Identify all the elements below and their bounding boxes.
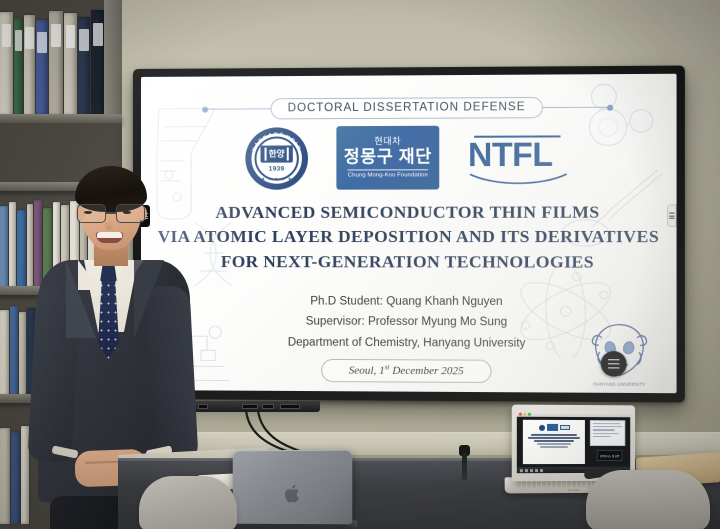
book [17, 210, 26, 288]
hanyang-university-seal-logo: H A N Y A N G U N I V 한양 [245, 127, 308, 190]
laptop-screen[interactable]: 한양대 나노 및 표면 [517, 412, 630, 474]
binder [64, 13, 77, 116]
laptop-window-titlebar [517, 412, 630, 418]
mascot-label: HANYANG UNIVERSITY [587, 382, 651, 387]
slide-title: ADVANCED SEMICONDUCTOR THIN FILMS VIA AT… [141, 200, 677, 275]
binder [91, 10, 104, 116]
book [10, 306, 18, 396]
logo-row: H A N Y A N G U N I V 한양 [141, 125, 677, 190]
jacket-lapel-left [66, 260, 96, 338]
banner-line-left [208, 108, 270, 109]
binder [49, 11, 63, 116]
book [0, 206, 8, 288]
title-line-2: VIA ATOMIC LAYER DEPOSITION AND ITS DERI… [141, 225, 677, 250]
photo-scene: DOCTORAL DISSERTATION DEFENSE H A N [0, 0, 720, 529]
smiling-mouth [96, 232, 123, 243]
info-line-student: Ph.D Student: Quang Khanh Nguyen [141, 291, 677, 313]
microphone-stand [462, 452, 467, 480]
title-line-1: ADVANCED SEMICONDUCTOR THIN FILMS [141, 200, 677, 225]
title-line-3: FOR NEXT-GENERATION TECHNOLOGIES [141, 250, 677, 275]
ntfl-lab-logo: NTFL [468, 132, 569, 183]
macbook-lid [233, 450, 353, 525]
laptop-slide-logos [525, 424, 583, 431]
binder [78, 17, 90, 116]
banner-dot-right [607, 104, 613, 110]
jacket-lapel-right [134, 260, 164, 338]
foundation-korean-small: 현대차 [374, 137, 401, 147]
banner-line-right [543, 107, 607, 108]
presenter-person [28, 160, 203, 500]
seal-ornament: ✦ ✦ ✦ ✦ ✦ [245, 176, 308, 182]
tv-screen: DOCTORAL DISSERTATION DEFENSE H A N [141, 74, 677, 393]
binder [24, 15, 35, 116]
apple-logo-icon [284, 484, 300, 503]
banner-label: DOCTORAL DISSERTATION DEFENSE [271, 97, 543, 120]
date-prefix: Seoul, 1 [349, 365, 385, 377]
book [11, 432, 20, 524]
binder [36, 20, 48, 116]
laptop-side-panel [590, 420, 625, 446]
book [19, 312, 26, 396]
date-suffix: December 2025 [389, 365, 463, 378]
office-chair-left [139, 476, 237, 529]
book [0, 310, 9, 396]
binder [14, 18, 23, 116]
laptop-screen-badge: 한양대 나노 및 표면 [597, 450, 623, 461]
foundation-english-name: Chung Mong-Koo Foundation [348, 170, 428, 179]
necktie-pattern [98, 281, 119, 359]
laptop-brand-label: LG Gram [568, 489, 580, 492]
laptop-slide-preview [523, 420, 585, 464]
date-badge: Seoul, 1st December 2025 [321, 359, 491, 383]
binder [0, 12, 13, 116]
seal-year: 1939 [245, 165, 308, 172]
book [0, 428, 10, 524]
book [9, 202, 16, 288]
wall-mounted-tv: DOCTORAL DISSERTATION DEFENSE H A N [133, 66, 685, 403]
office-chair-right [586, 470, 710, 529]
chung-mong-koo-foundation-logo: 현대차 정몽구 재단 Chung Mong-Koo Foundation [336, 126, 439, 190]
ntfl-logo-text: NTFL [468, 132, 569, 171]
slide-banner: DOCTORAL DISSERTATION DEFENSE [141, 96, 677, 120]
tv-osd-right-tab[interactable] [667, 204, 676, 226]
presentation-slide: DOCTORAL DISSERTATION DEFENSE H A N [141, 74, 677, 393]
seal-center-text: 한양 [261, 145, 293, 162]
tv-osd-menu-button[interactable] [601, 351, 627, 377]
foundation-korean-large: 정몽구 재단 [344, 147, 432, 168]
macbook-laptop[interactable] [233, 450, 353, 529]
necktie-knot [100, 266, 117, 282]
nose [105, 220, 113, 230]
